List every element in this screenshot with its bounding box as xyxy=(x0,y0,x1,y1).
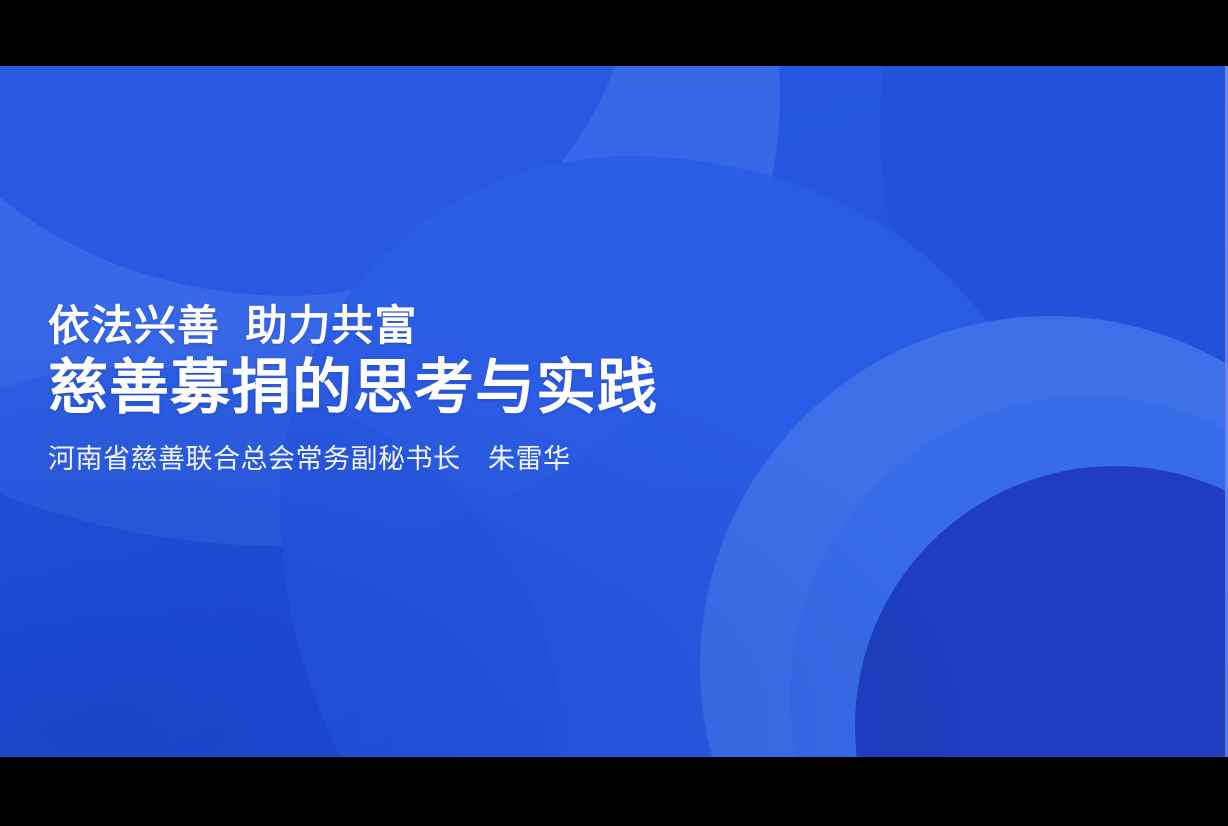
slide-canvas: 依法兴善 助力共富 慈善募捐的思考与实践 河南省慈善联合总会常务副秘书长 朱雷华 xyxy=(0,66,1228,757)
title-block: 依法兴善 助力共富 慈善募捐的思考与实践 河南省慈善联合总会常务副秘书长 朱雷华 xyxy=(48,302,928,475)
presenter-affiliation-and-name: 河南省慈善联合总会常务副秘书长 朱雷华 xyxy=(48,443,928,475)
slide-letterbox-frame: 依法兴善 助力共富 慈善募捐的思考与实践 河南省慈善联合总会常务副秘书长 朱雷华 xyxy=(0,0,1228,826)
page-title: 慈善募捐的思考与实践 xyxy=(48,355,928,421)
slide-headline-secondary: 依法兴善 助力共富 xyxy=(48,302,928,349)
